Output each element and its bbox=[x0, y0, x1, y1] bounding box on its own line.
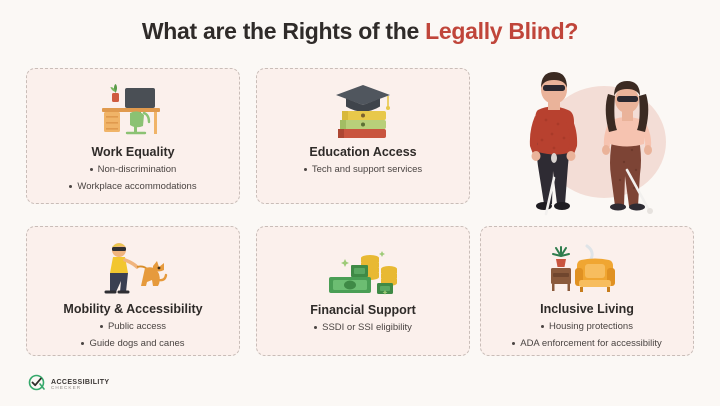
card-title: Work Equality bbox=[91, 145, 174, 159]
bullet-text: Workplace accommodations bbox=[77, 181, 196, 192]
card-bullet-list: Non-discrimination Workplace accommodati… bbox=[69, 164, 196, 198]
list-item: Workplace accommodations bbox=[69, 181, 196, 192]
card-bullet-list: Housing protections ADA enforcement for … bbox=[512, 321, 662, 355]
bullet-text: Guide dogs and canes bbox=[89, 338, 184, 349]
bullet-text: Housing protections bbox=[549, 321, 633, 332]
card-title: Education Access bbox=[309, 145, 416, 159]
armchair-living-room-icon bbox=[547, 235, 627, 296]
guide-dog-walker-icon bbox=[97, 235, 169, 296]
card-title: Inclusive Living bbox=[540, 302, 634, 316]
bullet-text: SSDI or SSI eligibility bbox=[322, 322, 412, 333]
card-bullet-list: SSDI or SSI eligibility bbox=[314, 322, 412, 339]
card-financial-support: Financial Support SSDI or SSI eligibilit… bbox=[256, 226, 470, 356]
card-title: Financial Support bbox=[310, 303, 416, 317]
list-item: Guide dogs and canes bbox=[81, 338, 184, 349]
list-item: Tech and support services bbox=[304, 164, 422, 175]
graduation-cap-books-icon bbox=[330, 77, 396, 139]
list-item: Non-discrimination bbox=[69, 164, 196, 175]
title-main-text: What are the Rights of the bbox=[142, 18, 425, 44]
title-accent-text: Legally Blind? bbox=[425, 18, 578, 44]
list-item: Housing protections bbox=[512, 321, 662, 332]
list-item: SSDI or SSI eligibility bbox=[314, 322, 412, 333]
list-item: ADA enforcement for accessibility bbox=[512, 338, 662, 349]
card-education-access: Education Access Tech and support servic… bbox=[256, 68, 470, 204]
bullet-text: Public access bbox=[108, 321, 166, 332]
card-bullet-list: Public access Guide dogs and canes bbox=[81, 321, 184, 355]
card-title: Mobility & Accessibility bbox=[63, 302, 202, 316]
card-inclusive-living: Inclusive Living Housing protections ADA… bbox=[480, 226, 694, 356]
card-mobility-accessibility: Mobility & Accessibility Public access G… bbox=[26, 226, 240, 356]
logo-subtitle: CHECKER bbox=[51, 386, 109, 391]
infographic-page: What are the Rights of the Legally Blind… bbox=[0, 0, 720, 406]
footer-logo: ACCESSIBILITY CHECKER bbox=[28, 374, 109, 396]
card-work-equality: Work Equality Non-discrimination Workpla… bbox=[26, 68, 240, 204]
card-bullet-list: Tech and support services bbox=[304, 164, 422, 181]
bullet-text: ADA enforcement for accessibility bbox=[520, 338, 662, 349]
two-people-with-white-canes-illustration bbox=[496, 58, 706, 216]
green-check-badge-icon bbox=[28, 374, 45, 396]
money-coins-icon bbox=[325, 235, 401, 297]
page-title: What are the Rights of the Legally Blind… bbox=[0, 18, 720, 45]
bullet-text: Tech and support services bbox=[312, 164, 422, 175]
bullet-text: Non-discrimination bbox=[98, 164, 177, 175]
desk-workstation-icon bbox=[94, 77, 172, 139]
person-left bbox=[530, 72, 577, 214]
list-item: Public access bbox=[81, 321, 184, 332]
